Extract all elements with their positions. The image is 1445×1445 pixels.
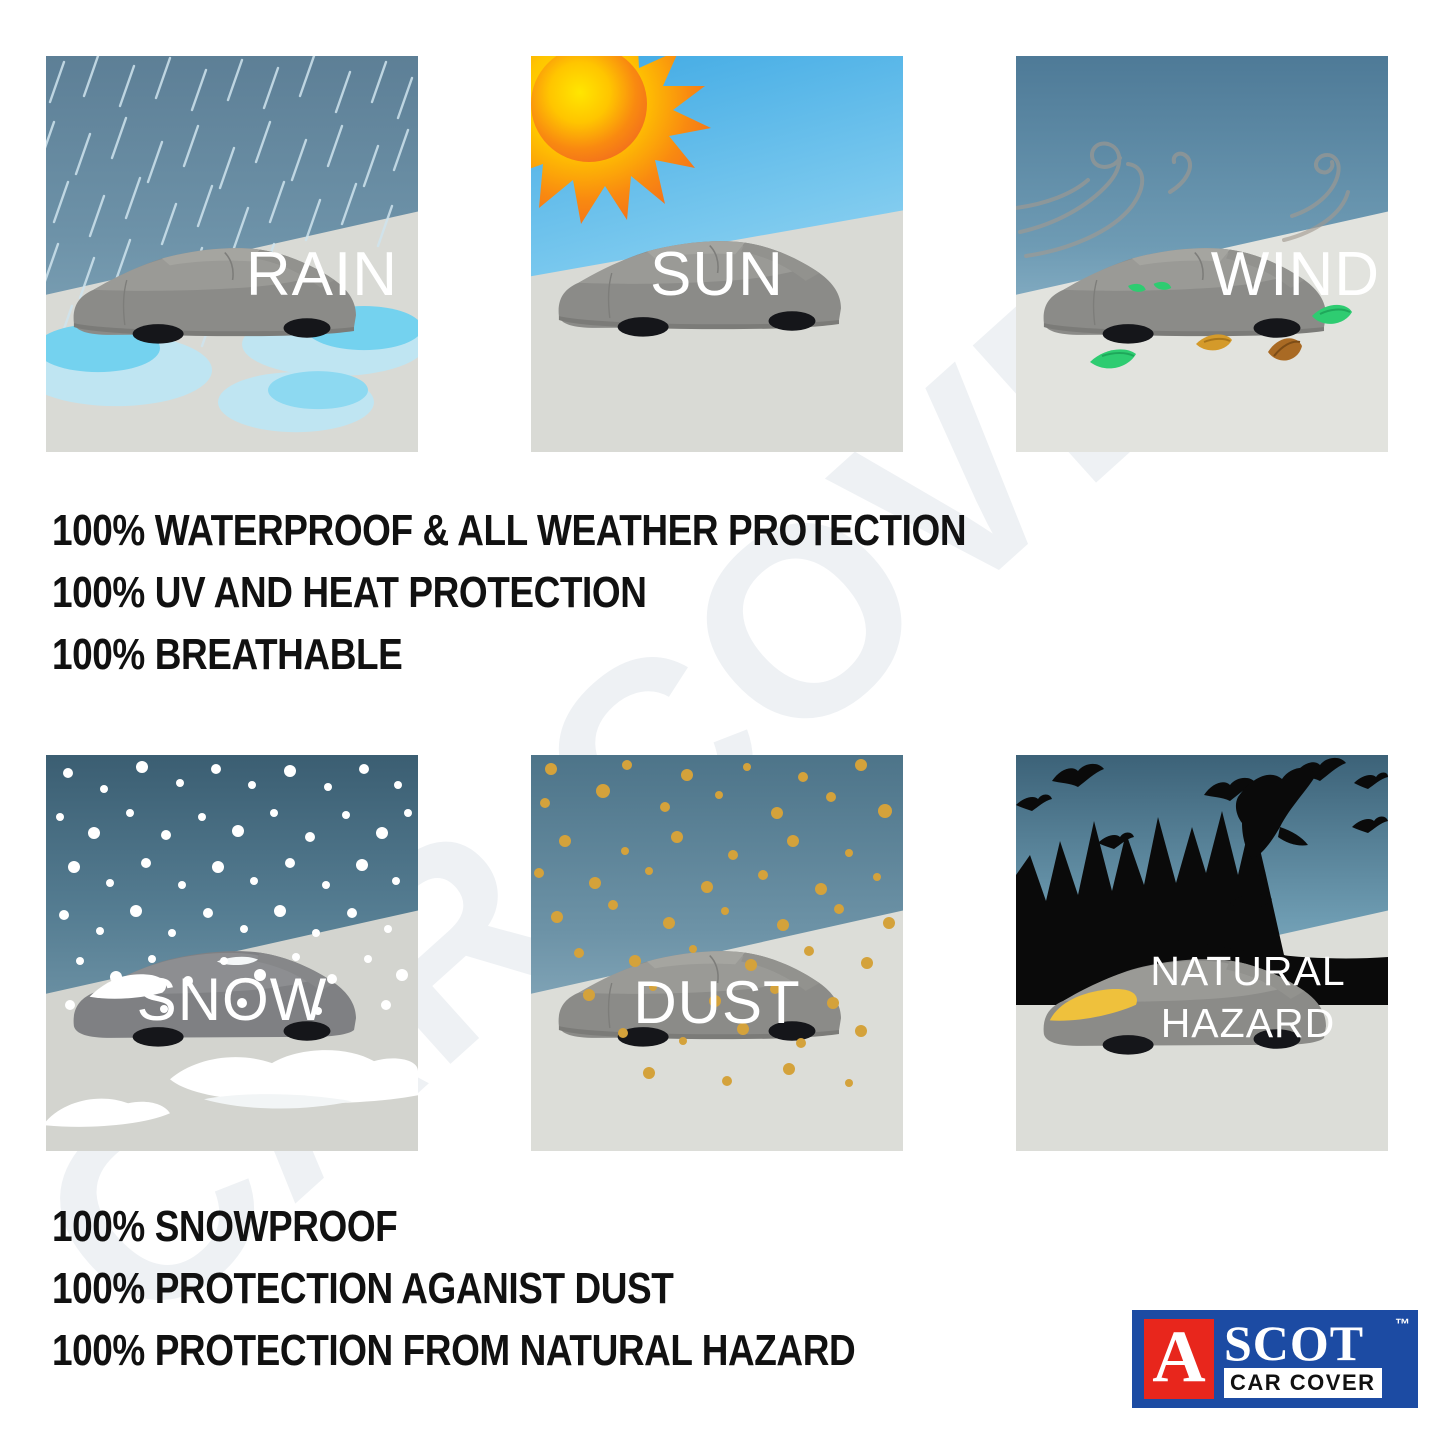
panel-label-snow: SNOW (46, 970, 418, 1030)
logo-wordmark-group: ™ SCOT CAR COVER (1224, 1320, 1408, 1398)
features-bottom: 100% SNOWPROOF 100% PROTECTION AGANIST D… (52, 1196, 1008, 1382)
panel-rain[interactable]: RAIN (46, 56, 418, 452)
snowflake-icon (46, 755, 418, 1151)
feature-line: 100% BREATHABLE (52, 624, 966, 686)
logo-monogram-badge: A (1144, 1319, 1214, 1399)
panel-sun[interactable]: SUN (531, 56, 903, 452)
logo-trademark: ™ (1395, 1316, 1410, 1333)
panel-label-sun: SUN (531, 244, 903, 306)
panel-dust[interactable]: DUST (531, 755, 903, 1151)
logo-tagline: CAR COVER (1224, 1368, 1382, 1398)
feature-line: 100% WATERPROOF & ALL WEATHER PROTECTION (52, 500, 966, 562)
brand-logo[interactable]: A ™ SCOT CAR COVER (1132, 1310, 1418, 1408)
sun-rays-icon (531, 56, 715, 232)
panel-label-wind: WIND (1211, 244, 1388, 306)
infographic-stage: CAR COVER™ (0, 0, 1445, 1445)
panel-label-rain: RAIN (246, 244, 418, 306)
panel-natural-hazard[interactable]: NATURAL HAZARD (1016, 755, 1388, 1151)
features-top: 100% WATERPROOF & ALL WEATHER PROTECTION… (52, 500, 1140, 686)
feature-line: 100% UV AND HEAT PROTECTION (52, 562, 966, 624)
panel-snow[interactable]: SNOW (46, 755, 418, 1151)
feature-line: 100% PROTECTION AGANIST DUST (52, 1258, 855, 1320)
sun-icon (531, 56, 715, 232)
hazard-label-line2: HAZARD (1062, 997, 1388, 1049)
panel-wind[interactable]: WIND (1016, 56, 1388, 452)
logo-brand-name: SCOT (1224, 1320, 1408, 1366)
feature-line: 100% PROTECTION FROM NATURAL HAZARD (52, 1320, 855, 1382)
dust-particles-icon (531, 755, 903, 1151)
hazard-label-line1: NATURAL (1062, 945, 1388, 997)
panel-label-natural-hazard: NATURAL HAZARD (1016, 945, 1388, 1050)
panel-label-dust: DUST (531, 973, 903, 1033)
logo-monogram: A (1152, 1320, 1205, 1394)
feature-line: 100% SNOWPROOF (52, 1196, 855, 1258)
